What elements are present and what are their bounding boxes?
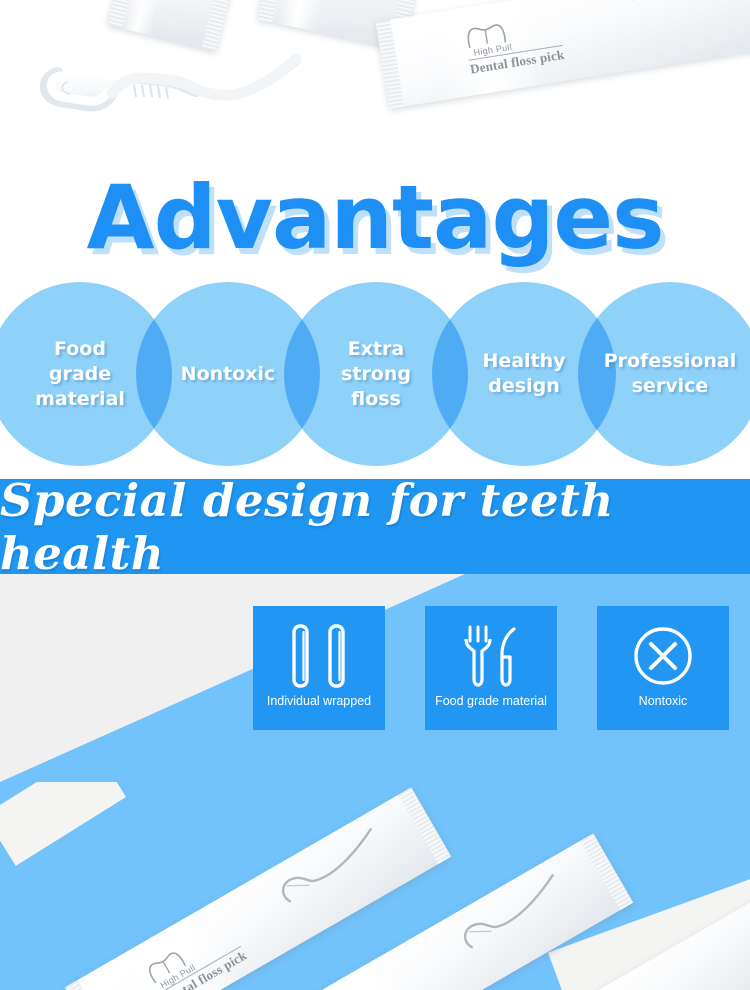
sachet-crimp-edge: [580, 833, 633, 910]
advantage-label-professional-service: Professionalservice: [578, 282, 750, 466]
hero-product-photo: High Pull Dental floss pick: [0, 0, 750, 162]
page-title: Advantages: [0, 168, 750, 268]
feature-tile-label: Food grade material: [431, 694, 551, 709]
feature-tiles-section: Individual wrapped Food grade material: [0, 574, 750, 782]
sachet-crimp-edge: [376, 19, 405, 108]
sachet-sheen: [278, 0, 341, 32]
floss-pick-icon: [622, 0, 747, 15]
sachet-crimp-edge: [65, 980, 118, 990]
sachet-pair-icon: [282, 620, 356, 692]
advantages-title-band: Advantages: [0, 160, 750, 278]
sachet-crimp-edge: [398, 787, 451, 864]
floss-pick-icon: [38, 48, 368, 128]
feature-tile-individual-wrapped[interactable]: Individual wrapped: [253, 606, 385, 730]
feature-tile-label: Individual wrapped: [263, 694, 375, 709]
feature-tile-nontoxic[interactable]: Nontoxic: [597, 606, 729, 730]
sachet-packet: High Pull Dental floss pick: [376, 0, 750, 109]
sachet-packet: [107, 0, 244, 52]
circle-x-icon: [631, 620, 695, 692]
feature-tile-food-grade-material[interactable]: Food grade material: [425, 606, 557, 730]
product-detail-page: High Pull Dental floss pick: [0, 0, 750, 990]
feature-tile-label: Nontoxic: [635, 694, 692, 709]
footer-product-photo: High Pull Dental floss pick: [0, 782, 750, 990]
tagline-banner: Special design for teeth health: [0, 479, 750, 574]
floss-pick-icon: [268, 819, 400, 918]
advantages-venn-diagram: Foodgradematerial Nontoxic Extrastrongfl…: [0, 278, 750, 472]
fork-knife-icon: [458, 620, 524, 692]
sachet-crimp-edge: [202, 0, 245, 52]
sachet-sheen: [123, 0, 180, 36]
tagline-text: Special design for teeth health: [0, 474, 750, 580]
backdrop-corner: [0, 782, 126, 866]
